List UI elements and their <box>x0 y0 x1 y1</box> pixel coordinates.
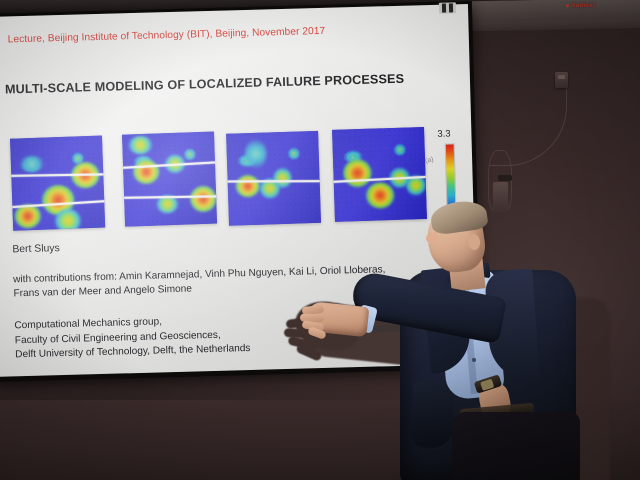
lecture-photo-scene: Radical Lecture, Beijing Institute of Te… <box>0 0 640 480</box>
watch-face <box>480 378 494 390</box>
shirt-button <box>472 358 476 362</box>
brand-dot-icon <box>566 4 569 7</box>
housing-brand-label: Radical <box>566 3 595 10</box>
slide-author: Bert Sluys <box>12 243 60 255</box>
slide-affiliation: Computational Mechanics group, Faculty o… <box>14 313 250 363</box>
presenter <box>300 206 640 480</box>
presenter-legs <box>452 412 580 480</box>
damage-blob <box>55 208 82 230</box>
heatmap-panel-1 <box>10 136 105 231</box>
jacket-tail <box>410 381 455 449</box>
heatmap-panel-2 <box>122 132 217 227</box>
screen-corner-clip <box>439 2 456 13</box>
wall-outlet-plate <box>555 72 568 88</box>
colorbar-max-label: 3.3 <box>437 128 451 139</box>
cable-clip <box>498 175 512 181</box>
